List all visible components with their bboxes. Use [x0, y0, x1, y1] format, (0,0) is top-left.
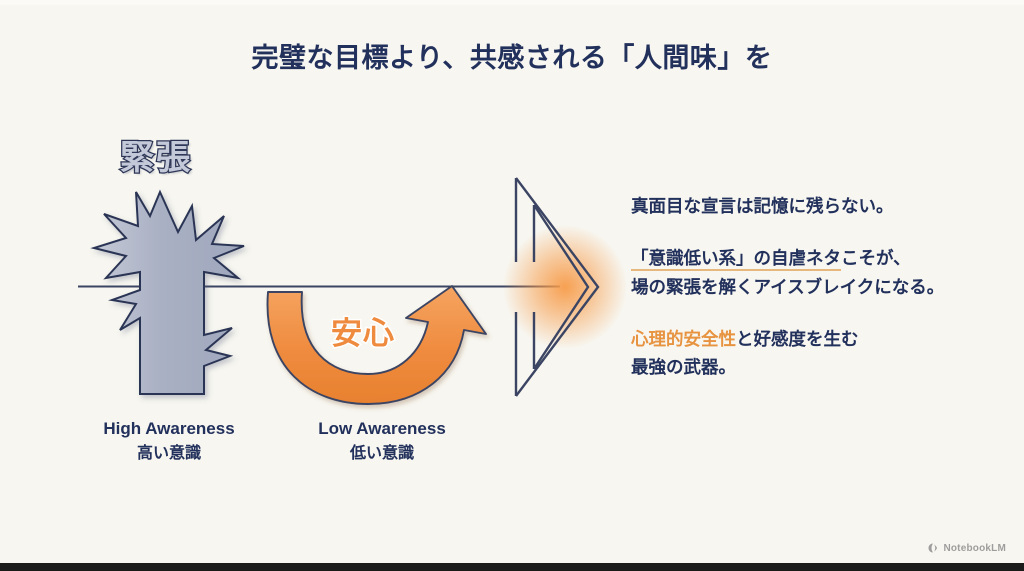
slide-canvas: 完璧な目標より、共感される「人間味」を	[0, 0, 1024, 571]
axis-caption-high-en: High Awareness	[80, 417, 258, 442]
paragraph-gap-2	[631, 301, 1001, 325]
page-title: 完璧な目標より、共感される「人間味」を	[0, 36, 1024, 75]
axis-caption-low-en: Low Awareness	[291, 417, 473, 442]
axis-caption-high-ja: 高い意識	[80, 442, 258, 465]
notebooklm-logo-icon	[927, 542, 939, 554]
body-line-1: 真面目な宣言は記憶に残らない。	[631, 192, 1001, 220]
axis-caption-low-ja: 低い意識	[291, 442, 473, 465]
body-line-2-underlined: 「意識低い系」の自虐ネタ	[631, 248, 841, 271]
tension-spiky-arrow	[94, 192, 244, 394]
paragraph-gap-1	[631, 220, 1001, 244]
notebooklm-watermark: NotebookLM	[927, 542, 1006, 554]
body-line-4-orange: 心理的安全性	[631, 329, 736, 349]
body-line-2: 「意識低い系」の自虐ネタこそが、	[631, 244, 1001, 272]
body-line-2-rest: こそが、	[841, 248, 911, 268]
letterbox-bottom	[0, 563, 1024, 571]
axis-caption-low-awareness: Low Awareness 低い意識	[291, 417, 473, 465]
notebooklm-watermark-label: NotebookLM	[943, 543, 1006, 554]
arrow-tip-glow	[503, 225, 627, 349]
chevron-outline-arrow	[516, 178, 598, 396]
tension-label: 緊張	[120, 130, 192, 179]
axis-caption-high-awareness: High Awareness 高い意識	[80, 417, 258, 465]
letterbox-top	[0, 0, 1024, 5]
relief-label: 安心	[331, 308, 395, 353]
body-line-5: 最強の武器。	[631, 353, 1001, 381]
body-line-4: 心理的安全性と好感度を生む	[631, 325, 1001, 353]
body-text-block: 真面目な宣言は記憶に残らない。 「意識低い系」の自虐ネタこそが、 場の緊張を解く…	[631, 192, 1001, 382]
body-line-4-rest: と好感度を生む	[736, 329, 859, 349]
body-line-3: 場の緊張を解くアイスブレイクになる。	[631, 273, 1001, 301]
